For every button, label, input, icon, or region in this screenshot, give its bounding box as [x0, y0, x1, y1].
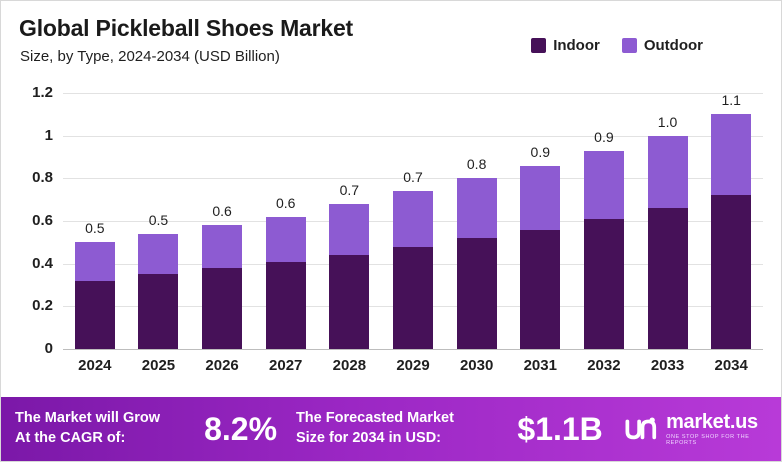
- legend-swatch-indoor: [531, 38, 546, 53]
- y-axis-tick-label: 0.6: [0, 212, 53, 229]
- bar-segment-indoor[interactable]: [138, 274, 178, 349]
- cagr-label: The Market will Grow At the CAGR of:: [1, 409, 185, 448]
- bar-segment-indoor[interactable]: [329, 255, 369, 349]
- cagr-value: 8.2%: [185, 411, 296, 448]
- bar-segment-indoor[interactable]: [584, 219, 624, 349]
- bar-value-label: 0.7: [319, 182, 379, 198]
- bar-group[interactable]: [711, 114, 751, 349]
- gridline: [63, 93, 763, 94]
- bar-value-label: 1.0: [638, 114, 698, 130]
- bar-value-label: 0.9: [510, 144, 570, 160]
- x-axis-tick-label: 2029: [378, 357, 448, 374]
- bar-segment-outdoor[interactable]: [457, 178, 497, 238]
- x-axis-tick-label: 2034: [696, 357, 766, 374]
- brand-name: market.us: [666, 412, 781, 432]
- bar-group[interactable]: [393, 191, 433, 349]
- bar-segment-outdoor[interactable]: [266, 217, 306, 262]
- bar-segment-indoor[interactable]: [393, 247, 433, 349]
- x-axis-tick-label: 2025: [123, 357, 193, 374]
- plot-area: 00.20.40.60.811.20.520240.520250.620260.…: [63, 93, 763, 349]
- footer-banner: The Market will Grow At the CAGR of: 8.2…: [1, 397, 781, 461]
- x-axis-tick-label: 2033: [633, 357, 703, 374]
- y-axis-tick-label: 1: [0, 127, 53, 144]
- bar-segment-indoor[interactable]: [202, 268, 242, 349]
- legend-item-indoor: Indoor: [531, 37, 600, 54]
- legend-label-outdoor: Outdoor: [644, 37, 703, 54]
- cagr-label-line2: At the CAGR of:: [15, 429, 185, 449]
- bar-segment-indoor[interactable]: [520, 230, 560, 349]
- bar-segment-outdoor[interactable]: [648, 136, 688, 209]
- bar-group[interactable]: [457, 178, 497, 349]
- bar-segment-indoor[interactable]: [75, 281, 115, 349]
- bar-value-label: 0.6: [256, 195, 316, 211]
- legend-label-indoor: Indoor: [553, 37, 600, 54]
- bar-segment-outdoor[interactable]: [584, 151, 624, 219]
- bar-segment-outdoor[interactable]: [520, 166, 560, 230]
- y-axis-tick-label: 0.4: [0, 255, 53, 272]
- legend-item-outdoor: Outdoor: [622, 37, 703, 54]
- x-axis-tick-label: 2028: [314, 357, 384, 374]
- bar-group[interactable]: [329, 204, 369, 349]
- x-axis-tick-label: 2031: [505, 357, 575, 374]
- y-axis-tick-label: 0.8: [0, 169, 53, 186]
- bar-group[interactable]: [75, 242, 115, 349]
- x-axis-tick-label: 2032: [569, 357, 639, 374]
- bar-value-label: 1.1: [701, 92, 761, 108]
- bar-segment-outdoor[interactable]: [75, 242, 115, 280]
- x-axis-tick-label: 2027: [251, 357, 321, 374]
- bar-value-label: 0.5: [65, 220, 125, 236]
- bar-value-label: 0.7: [383, 169, 443, 185]
- bar-segment-outdoor[interactable]: [393, 191, 433, 246]
- forecast-label-line1: The Forecasted Market: [296, 409, 502, 429]
- bar-group[interactable]: [202, 225, 242, 349]
- y-axis-tick-label: 1.2: [0, 84, 53, 101]
- market-us-logo-icon: [624, 416, 658, 442]
- forecast-label-line2: Size for 2034 in USD:: [296, 429, 502, 449]
- x-axis-tick-label: 2030: [442, 357, 512, 374]
- bar-segment-outdoor[interactable]: [711, 114, 751, 195]
- brand-tagline: ONE STOP SHOP FOR THE REPORTS: [666, 435, 781, 446]
- page-subtitle: Size, by Type, 2024-2034 (USD Billion): [20, 48, 280, 65]
- bar-segment-indoor[interactable]: [266, 262, 306, 349]
- bar-value-label: 0.6: [192, 203, 252, 219]
- bar-segment-outdoor[interactable]: [138, 234, 178, 275]
- x-axis-line: [63, 349, 763, 350]
- forecast-value: $1.1B: [502, 411, 619, 448]
- bar-segment-indoor[interactable]: [457, 238, 497, 349]
- bar-value-label: 0.8: [447, 156, 507, 172]
- bar-value-label: 0.5: [128, 212, 188, 228]
- bar-segment-indoor[interactable]: [648, 208, 688, 349]
- bar-group[interactable]: [520, 166, 560, 349]
- brand-text: market.us ONE STOP SHOP FOR THE REPORTS: [666, 412, 781, 446]
- bar-group[interactable]: [266, 217, 306, 349]
- bar-segment-outdoor[interactable]: [329, 204, 369, 255]
- legend-swatch-outdoor: [622, 38, 637, 53]
- x-axis-tick-label: 2024: [60, 357, 130, 374]
- cagr-label-line1: The Market will Grow: [15, 409, 185, 429]
- bar-group[interactable]: [584, 151, 624, 349]
- forecast-label: The Forecasted Market Size for 2034 in U…: [296, 409, 502, 448]
- chart-page: Global Pickleball Shoes Market Size, by …: [0, 0, 782, 462]
- x-axis-tick-label: 2026: [187, 357, 257, 374]
- page-title: Global Pickleball Shoes Market: [19, 15, 353, 42]
- bar-group[interactable]: [138, 234, 178, 349]
- chart-legend: Indoor Outdoor: [531, 37, 703, 54]
- bar-value-label: 0.9: [574, 129, 634, 145]
- bar-segment-outdoor[interactable]: [202, 225, 242, 268]
- bar-segment-indoor[interactable]: [711, 195, 751, 349]
- bar-group[interactable]: [648, 136, 688, 349]
- y-axis-tick-label: 0: [0, 340, 53, 357]
- brand-logo: market.us ONE STOP SHOP FOR THE REPORTS: [618, 412, 781, 446]
- y-axis-tick-label: 0.2: [0, 297, 53, 314]
